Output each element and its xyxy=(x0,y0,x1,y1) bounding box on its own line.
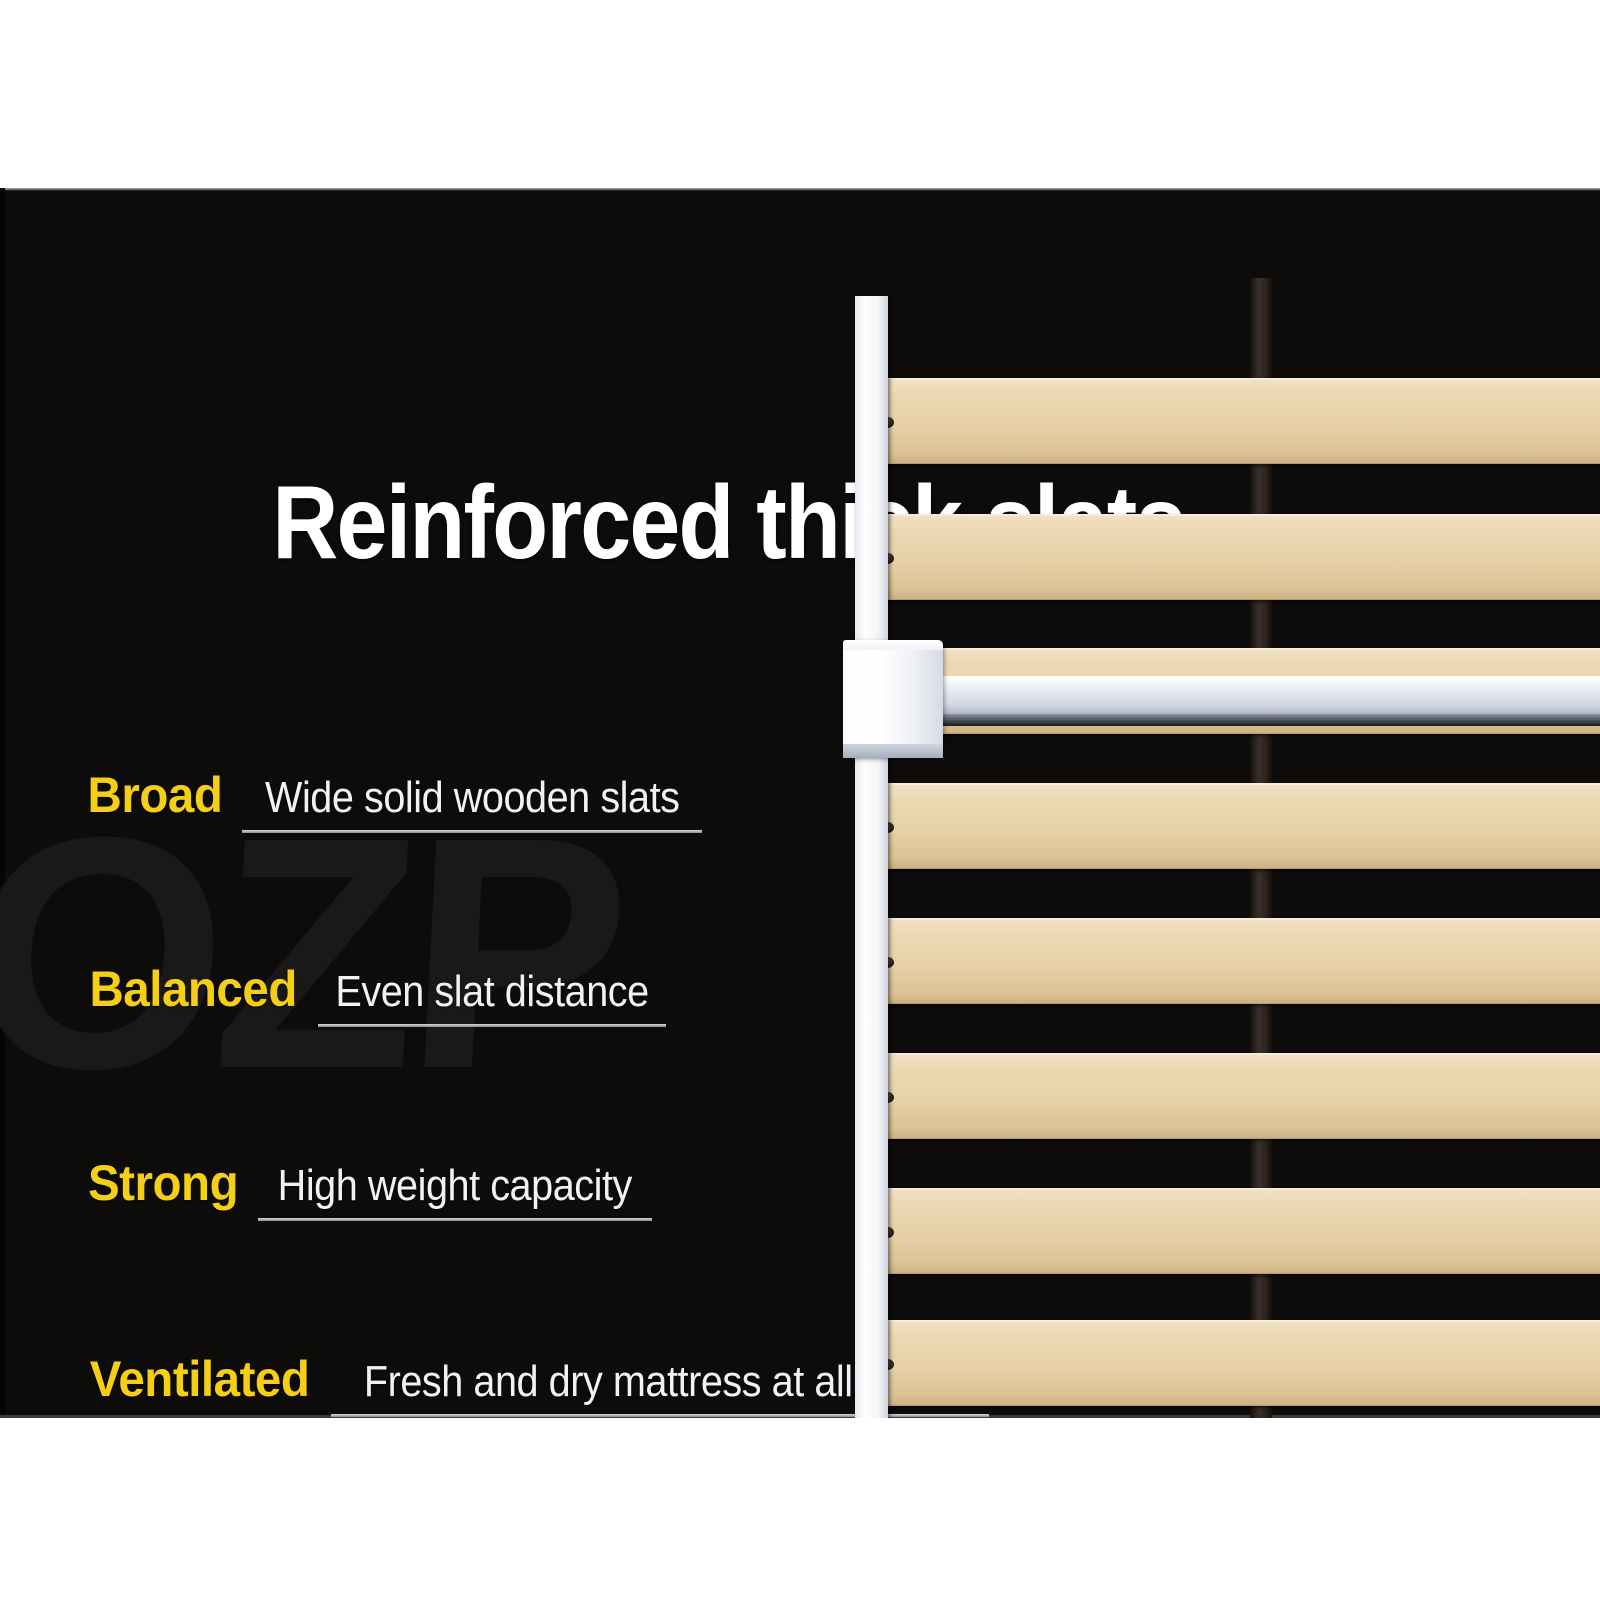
wooden-slat xyxy=(855,783,1600,869)
feature-row-balanced: Balanced Even slat distance xyxy=(84,960,666,1027)
feature-label: Balanced xyxy=(89,960,296,1018)
feature-row-strong: Strong High weight capacity xyxy=(84,1154,652,1221)
feature-label: Ventilated xyxy=(90,1350,310,1408)
wooden-slat xyxy=(855,378,1600,464)
feature-underline xyxy=(258,1218,652,1221)
feature-label: Broad xyxy=(88,766,223,824)
feature-description-wrap: Even slat distance xyxy=(318,967,666,1027)
feature-underline xyxy=(318,1024,666,1027)
corner-post xyxy=(843,640,943,755)
wooden-slat xyxy=(855,918,1600,1004)
feature-row-broad: Broad Wide solid wooden slats xyxy=(84,766,702,833)
feature-description: High weight capacity xyxy=(278,1161,632,1211)
side-rail-shadow xyxy=(923,714,1600,726)
feature-description: Wide solid wooden slats xyxy=(265,773,679,823)
feature-description-wrap: Wide solid wooden slats xyxy=(242,773,703,833)
wooden-slat xyxy=(855,1320,1600,1406)
corner-post-base xyxy=(843,744,943,758)
wooden-slat xyxy=(855,514,1600,600)
content-panel: OZP Reinforced thick slats Broad Wide so… xyxy=(0,188,1600,1418)
wooden-slat xyxy=(855,1053,1600,1139)
slat-deck xyxy=(855,278,1600,1418)
corner-post-bevel xyxy=(843,640,943,650)
vertical-leg-post xyxy=(855,296,888,1418)
feature-underline xyxy=(242,830,703,833)
feature-label: Strong xyxy=(88,1154,238,1212)
wooden-slat xyxy=(855,1188,1600,1274)
horizontal-side-rail xyxy=(923,676,1600,714)
feature-description: Even slat distance xyxy=(336,967,649,1017)
bed-frame-photo xyxy=(815,188,1600,1418)
feature-description-wrap: High weight capacity xyxy=(258,1161,652,1221)
poster-canvas: OZP Reinforced thick slats Broad Wide so… xyxy=(0,0,1600,1600)
